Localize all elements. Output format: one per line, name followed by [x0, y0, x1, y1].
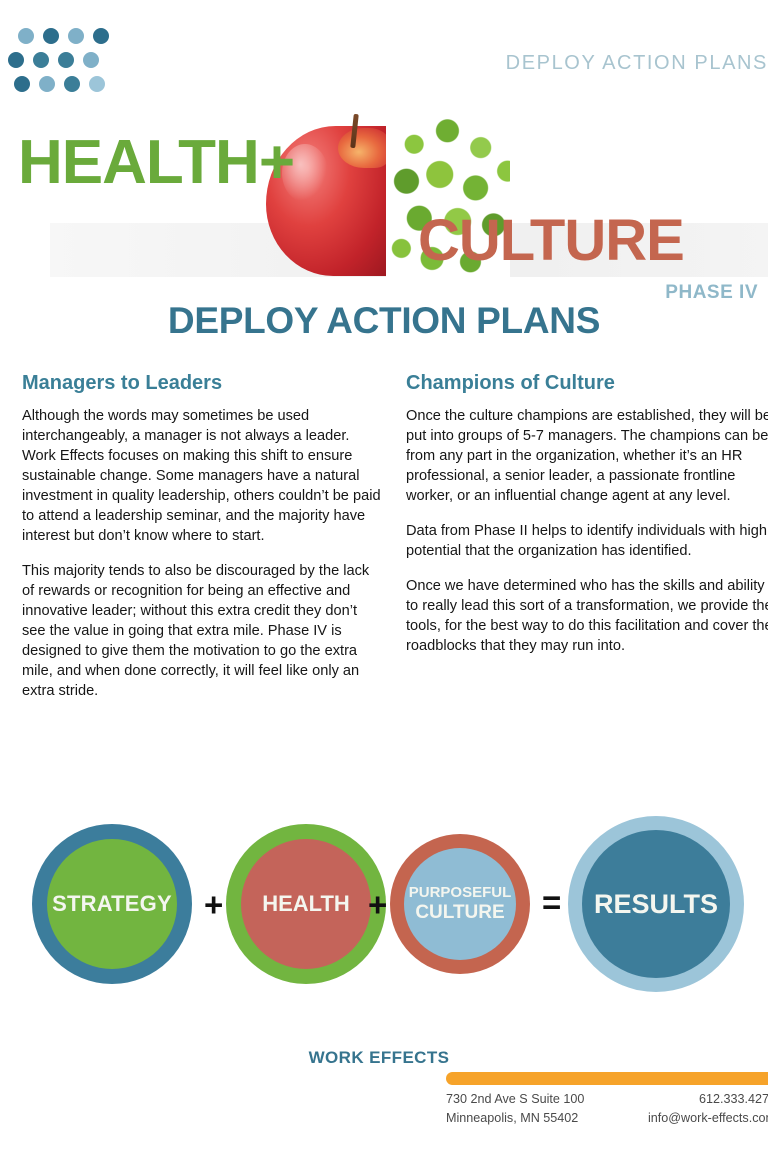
logo-dot: [58, 52, 74, 68]
circle-purposeful-culture: PURPOSEFUL CULTURE: [390, 834, 530, 974]
footer-phone: 612.333.4272: [648, 1090, 768, 1109]
column-champions-of-culture: Champions of Culture Once the culture ch…: [406, 372, 766, 717]
footer-address-line1: 730 2nd Ave S Suite 100: [446, 1090, 584, 1109]
logo-dot: [64, 76, 80, 92]
logo-dot: [14, 76, 30, 92]
paragraph: Data from Phase II helps to identify ind…: [406, 522, 768, 562]
circle-results: RESULTS: [568, 816, 744, 992]
plus-operator-1: +: [204, 888, 223, 921]
banner-word-health: HEALTH+: [18, 132, 294, 194]
dot-grid-logo: [8, 28, 112, 98]
circle-culture-label-group: PURPOSEFUL CULTURE: [404, 848, 516, 960]
footer-contact-block: 730 2nd Ave S Suite 100 Minneapolis, MN …: [446, 1090, 768, 1128]
circle-strategy: STRATEGY: [32, 824, 192, 984]
footer-address-line2: Minneapolis, MN 55402: [446, 1109, 584, 1128]
equals-operator: =: [542, 886, 561, 919]
footer-address: 730 2nd Ave S Suite 100 Minneapolis, MN …: [446, 1090, 584, 1128]
footer-email[interactable]: info@work-effects.com: [648, 1109, 768, 1128]
logo-dot: [43, 28, 59, 44]
column-heading-right: Champions of Culture: [406, 372, 766, 395]
banner-word-culture: CULTURE: [418, 212, 684, 270]
logo-dot: [93, 28, 109, 44]
header-eyebrow-label: DEPLOY ACTION PLANS: [506, 52, 768, 75]
logo-dot: [18, 28, 34, 44]
paragraph: Once the culture champions are establish…: [406, 407, 768, 507]
footer-brand-name: WORK EFFECTS: [0, 1048, 758, 1068]
circle-results-label: RESULTS: [582, 830, 730, 978]
logo-dot: [83, 52, 99, 68]
plus-operator-2: +: [368, 888, 387, 921]
logo-dot: [39, 76, 55, 92]
footer-contact: 612.333.4272 info@work-effects.com: [648, 1090, 768, 1128]
circle-strategy-label: STRATEGY: [47, 839, 177, 969]
circle-culture-label-line1: PURPOSEFUL: [409, 885, 512, 902]
logo-dot: [68, 28, 84, 44]
footer-accent-bar: [446, 1072, 768, 1085]
circle-culture-label-line2: CULTURE: [415, 902, 504, 923]
column-managers-to-leaders: Managers to Leaders Although the words m…: [22, 372, 382, 717]
paragraph: This majority tends to also be discourag…: [22, 562, 382, 702]
circle-health-label: HEALTH: [241, 839, 371, 969]
equation-diagram: STRATEGY + HEALTH + PURPOSEFUL CULTURE =…: [24, 812, 754, 992]
logo-dot: [8, 52, 24, 68]
page-title: DEPLOY ACTION PLANS: [0, 300, 768, 342]
column-heading-left: Managers to Leaders: [22, 372, 382, 395]
paragraph: Once we have determined who has the skil…: [406, 577, 768, 657]
apple-top-icon: [338, 128, 390, 168]
paragraph: Although the words may sometimes be used…: [22, 407, 382, 547]
content-columns: Managers to Leaders Although the words m…: [22, 372, 768, 717]
footer: WORK EFFECTS 730 2nd Ave S Suite 100 Min…: [0, 1040, 768, 1152]
circle-health: HEALTH: [226, 824, 386, 984]
logo-dot: [33, 52, 49, 68]
logo-dot: [89, 76, 105, 92]
